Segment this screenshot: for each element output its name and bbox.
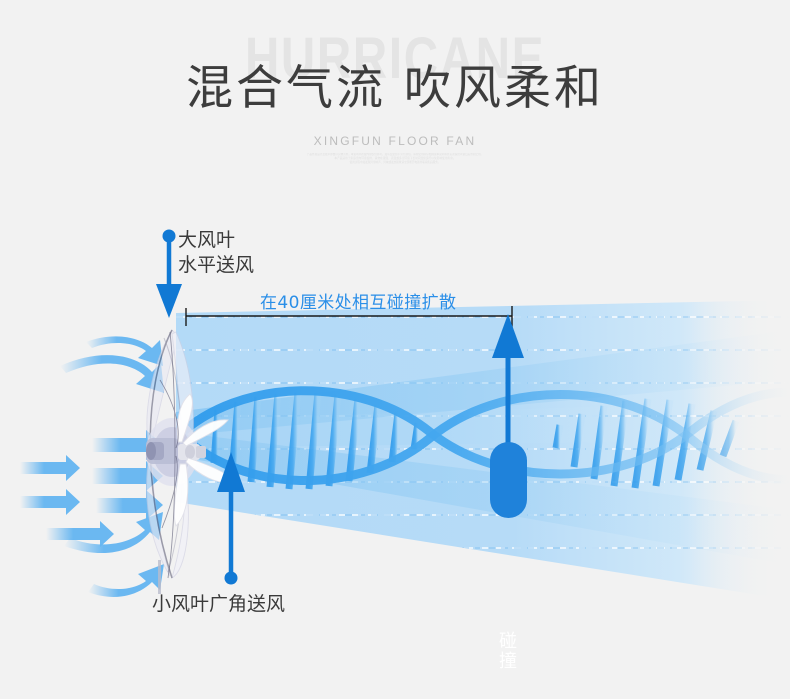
label-big-blade: 大风叶 水平送风 (178, 228, 254, 278)
airflow-diagram: 大风叶 水平送风 在40厘米处相互碰撞扩散 小风叶广角送风 碰 撞 (0, 180, 790, 699)
intake-airflow-arrows (20, 336, 164, 597)
right-fade-mask (690, 280, 790, 620)
decorative-fineprint: 产品外观设计及技术参数以实物为准，本说明书所载内容仅供参考，如有变更恕不另行通知… (195, 153, 595, 179)
header-section: HURRICANE 混合气流 吹风柔和 XINGFUN FLOOR FAN 产品… (0, 0, 790, 180)
fineprint-line-3: 使用过程中如发现异常响声、异味或发热现象请立即断开电源并联系售后服务。 (195, 161, 595, 165)
airflow-diagram-svg (0, 180, 790, 699)
page-subtitle: XINGFUN FLOOR FAN (0, 134, 790, 148)
product-infographic: HURRICANE 混合气流 吹风柔和 XINGFUN FLOOR FAN 产品… (0, 0, 790, 699)
collision-badge (490, 442, 527, 518)
page-title: 混合气流 吹风柔和 (0, 62, 790, 116)
label-small-blade: 小风叶广角送风 (152, 592, 285, 617)
label-span-distance: 在40厘米处相互碰撞扩散 (260, 292, 456, 314)
